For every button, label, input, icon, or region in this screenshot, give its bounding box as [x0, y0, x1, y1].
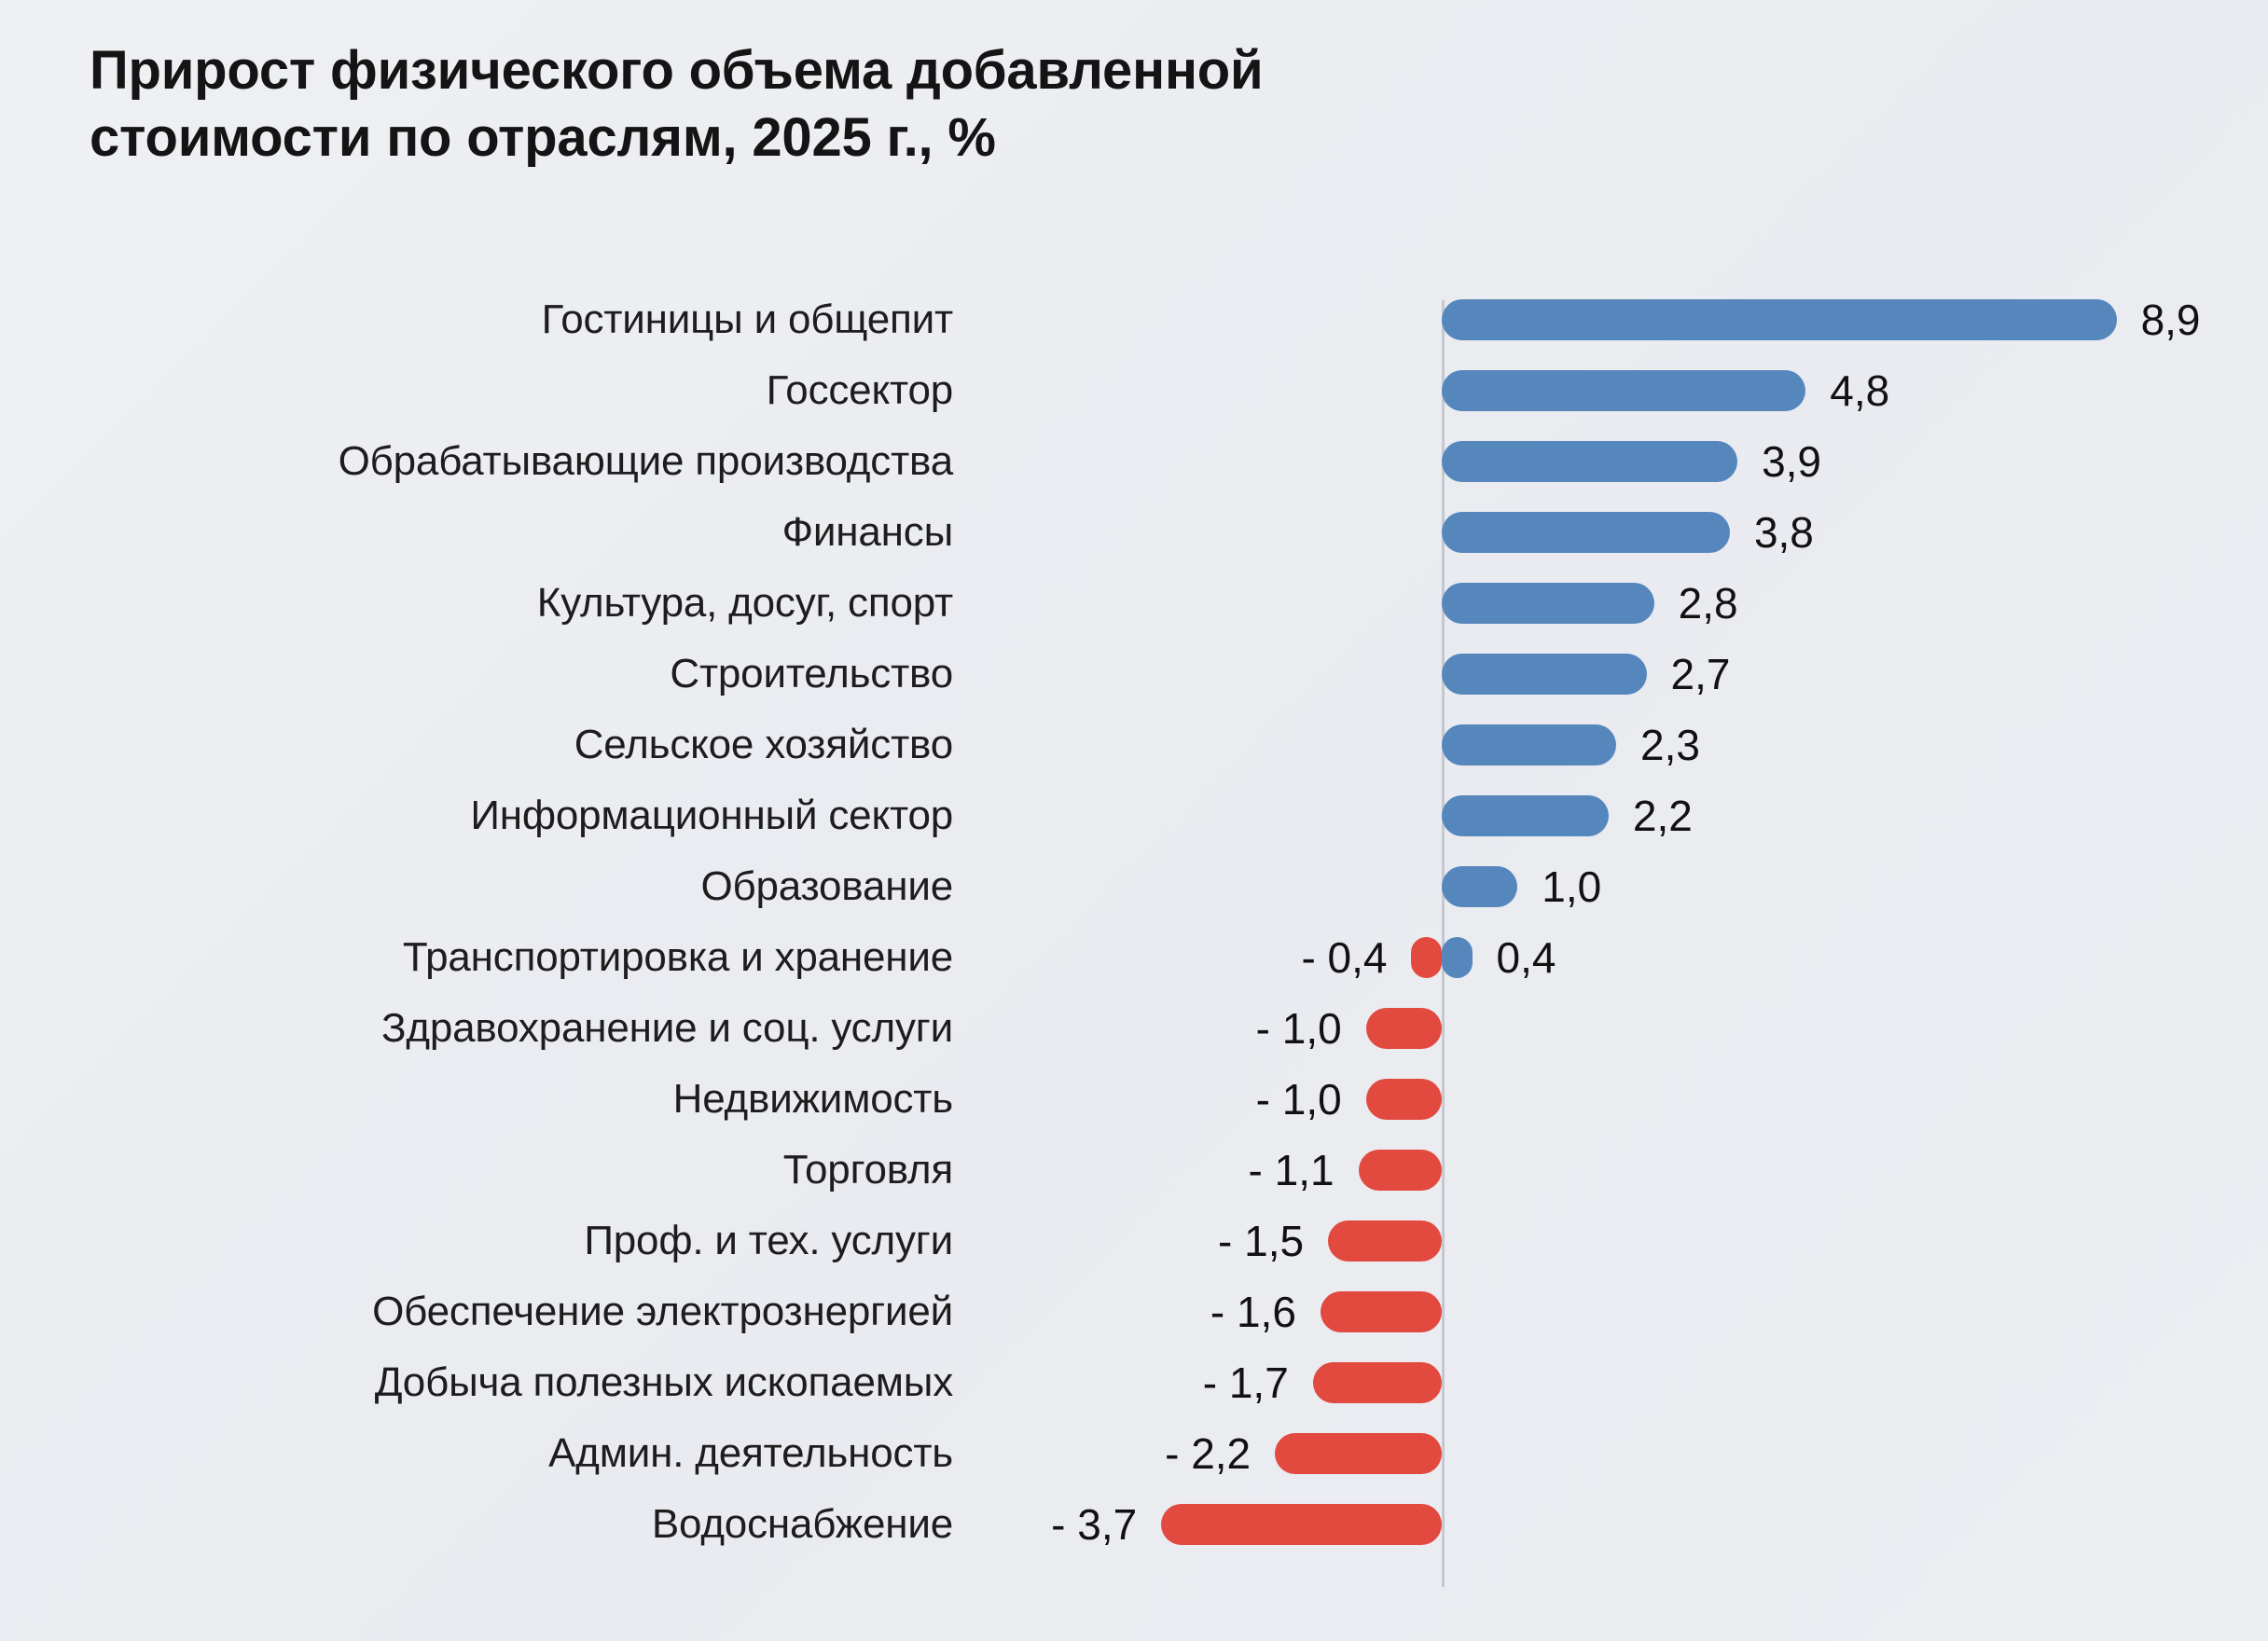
bar-negative: [1366, 1008, 1442, 1049]
value-label-negative: - 0,4: [1301, 922, 1387, 993]
category-label: Проф. и тех. услуги: [0, 1206, 953, 1276]
value-label-positive: 2,8: [1679, 568, 1738, 639]
value-label-positive: 4,8: [1830, 355, 1889, 426]
bar-row: Админ. деятельность- 2,2: [0, 1418, 2268, 1489]
category-label: Здравохранение и соц. услуги: [0, 993, 953, 1064]
bar-negative: [1366, 1079, 1442, 1120]
value-label-negative: - 1,0: [1256, 1064, 1342, 1135]
bar-row: Торговля- 1,1: [0, 1135, 2268, 1206]
value-label-positive: 8,9: [2141, 284, 2201, 355]
bar-row: Обеспечение электрознергией- 1,6: [0, 1276, 2268, 1347]
bar-row: Недвижимость- 1,0: [0, 1064, 2268, 1135]
bar-positive: [1442, 512, 1730, 553]
category-label: Информационный сектор: [0, 780, 953, 851]
category-label: Водоснабжение: [0, 1489, 953, 1560]
value-label-positive: 1,0: [1542, 851, 1601, 922]
category-label: Строительство: [0, 639, 953, 710]
bar-positive: [1442, 866, 1517, 907]
chart-title: Прирост физического объема добавленной с…: [90, 37, 1861, 172]
bar-positive: [1442, 441, 1737, 482]
plot-area: Гостиницы и общепит8,9Госсектор4,8Обраба…: [0, 284, 2268, 1590]
bar-positive: [1442, 937, 1473, 978]
category-label: Обеспечение электрознергией: [0, 1276, 953, 1347]
bar-positive: [1442, 654, 1647, 695]
bar-negative: [1321, 1291, 1442, 1332]
bar-row: Водоснабжение- 3,7: [0, 1489, 2268, 1560]
value-label-negative: - 1,6: [1210, 1276, 1296, 1347]
category-label: Добыча полезных ископаемых: [0, 1347, 953, 1418]
bar-negative: [1161, 1504, 1442, 1545]
value-label-positive: 2,3: [1640, 710, 1700, 780]
bar-positive: [1442, 299, 2117, 340]
chart-container: Прирост физического объема добавленной с…: [0, 0, 2268, 1641]
value-label-negative: - 1,1: [1249, 1135, 1335, 1206]
bar-positive: [1442, 370, 1805, 411]
bar-positive: [1442, 724, 1616, 765]
bar-row: Образование1,0: [0, 851, 2268, 922]
value-label-positive: 0,4: [1497, 922, 1556, 993]
chart-title-line-2: стоимости по отраслям, 2025 г., %: [90, 104, 1861, 172]
value-label-negative: - 1,5: [1218, 1206, 1304, 1276]
category-label: Сельское хозяйство: [0, 710, 953, 780]
category-label: Транспортировка и хранение: [0, 922, 953, 993]
bar-negative: [1275, 1433, 1442, 1474]
value-label-negative: - 1,0: [1256, 993, 1342, 1064]
bar-row: Информационный сектор2,2: [0, 780, 2268, 851]
bar-negative: [1411, 937, 1442, 978]
bar-row: Гостиницы и общепит8,9: [0, 284, 2268, 355]
bar-negative: [1359, 1150, 1442, 1191]
bar-row: Сельское хозяйство2,3: [0, 710, 2268, 780]
value-label-negative: - 1,7: [1203, 1347, 1289, 1418]
value-label-negative: - 2,2: [1165, 1418, 1251, 1489]
value-label-positive: 3,8: [1754, 497, 1814, 568]
category-label: Админ. деятельность: [0, 1418, 953, 1489]
bar-row: Госсектор4,8: [0, 355, 2268, 426]
category-label: Гостиницы и общепит: [0, 284, 953, 355]
category-label: Культура, досуг, спорт: [0, 568, 953, 639]
value-label-positive: 2,7: [1671, 639, 1731, 710]
bar-row: Финансы3,8: [0, 497, 2268, 568]
category-label: Обрабатывающие производства: [0, 426, 953, 497]
bar-row: Здравохранение и соц. услуги- 1,0: [0, 993, 2268, 1064]
bar-row: Обрабатывающие производства3,9: [0, 426, 2268, 497]
bar-row: Добыча полезных ископаемых- 1,7: [0, 1347, 2268, 1418]
bar-positive: [1442, 583, 1654, 624]
category-label: Недвижимость: [0, 1064, 953, 1135]
bar-row: Проф. и тех. услуги- 1,5: [0, 1206, 2268, 1276]
bar-negative: [1313, 1362, 1442, 1403]
bar-row: Культура, досуг, спорт2,8: [0, 568, 2268, 639]
bar-positive: [1442, 795, 1609, 836]
bar-negative: [1328, 1220, 1442, 1262]
bar-row: Строительство2,7: [0, 639, 2268, 710]
category-label: Госсектор: [0, 355, 953, 426]
value-label-positive: 2,2: [1633, 780, 1693, 851]
chart-title-line-1: Прирост физического объема добавленной: [90, 37, 1861, 104]
category-label: Торговля: [0, 1135, 953, 1206]
value-label-negative: - 3,7: [1051, 1489, 1137, 1560]
bar-row: Транспортировка и хранение0,4- 0,4: [0, 922, 2268, 993]
category-label: Финансы: [0, 497, 953, 568]
value-label-positive: 3,9: [1762, 426, 1821, 497]
category-label: Образование: [0, 851, 953, 922]
